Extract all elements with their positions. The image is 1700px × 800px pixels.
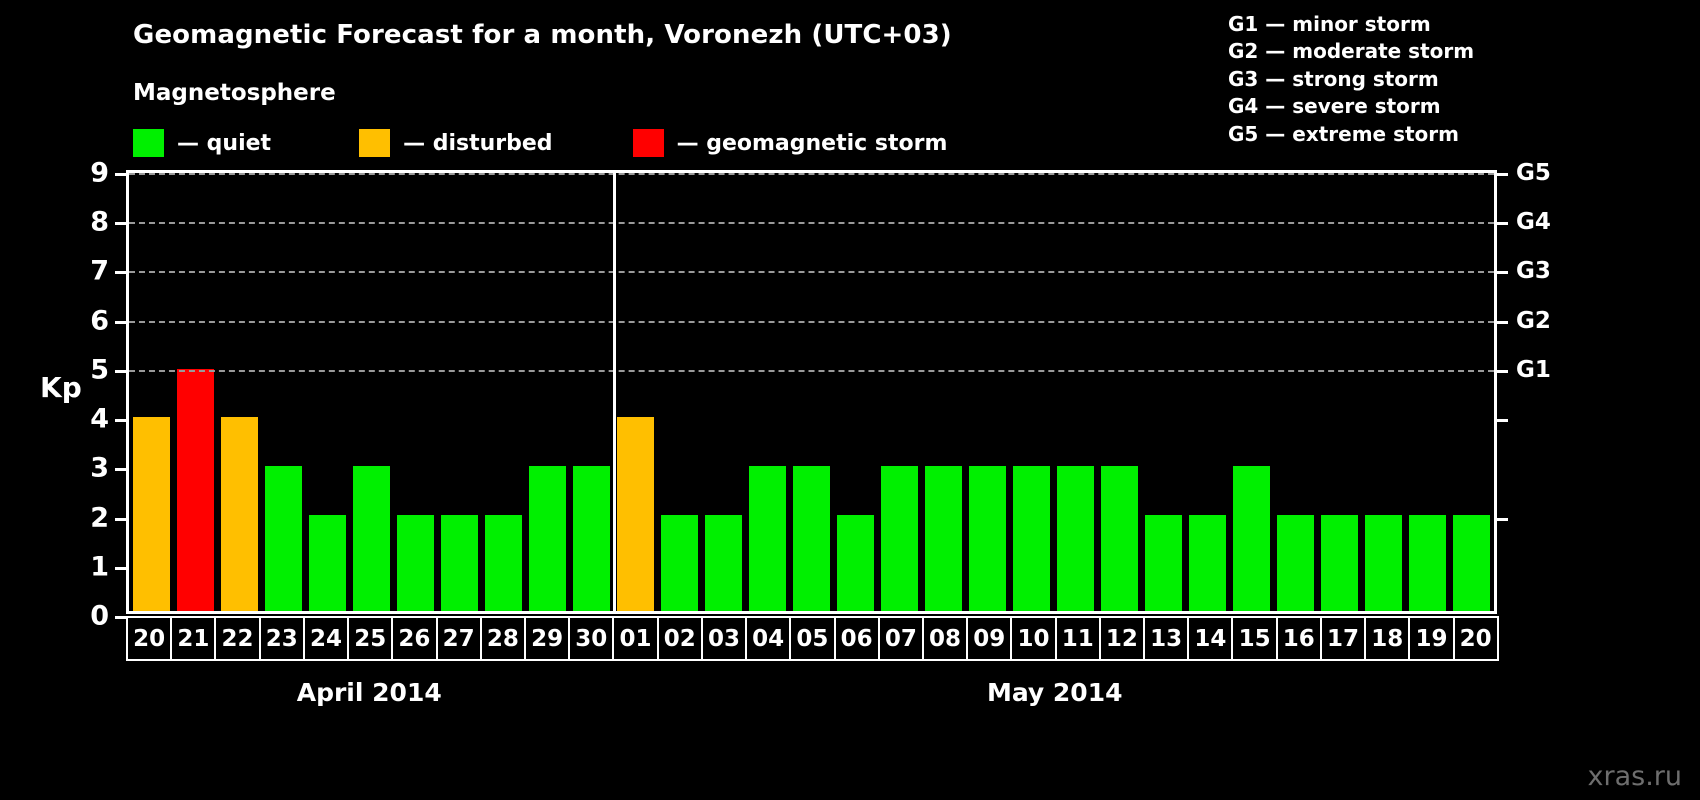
bar-30-kp-3[interactable] bbox=[573, 466, 610, 613]
plot-area: 0123456789G1G2G3G4G5 bbox=[126, 170, 1497, 613]
g-tick-G5 bbox=[1494, 173, 1508, 176]
bar-cell-15[interactable] bbox=[1230, 173, 1274, 613]
date-label-may-12[interactable]: 12 bbox=[1099, 616, 1145, 661]
month-caption-may: May 2014 bbox=[612, 678, 1497, 707]
date-label-april-26[interactable]: 26 bbox=[391, 616, 437, 661]
date-label-may-13[interactable]: 13 bbox=[1143, 616, 1189, 661]
y-tick-4 bbox=[115, 419, 129, 422]
bar-cell-23[interactable] bbox=[261, 173, 305, 613]
date-label-may-05[interactable]: 05 bbox=[789, 616, 835, 661]
bar-cell-16[interactable] bbox=[1274, 173, 1318, 613]
date-label-may-10[interactable]: 10 bbox=[1010, 616, 1056, 661]
date-label-may-06[interactable]: 06 bbox=[834, 616, 880, 661]
bar-17-kp-2[interactable] bbox=[1321, 515, 1358, 613]
g-axis-label-G1: G1 bbox=[1516, 357, 1551, 383]
bar-20-kp-4[interactable] bbox=[133, 417, 170, 613]
g-minor-tick-kp-4 bbox=[1494, 419, 1508, 422]
date-label-may-18[interactable]: 18 bbox=[1364, 616, 1410, 661]
bar-cell-07[interactable] bbox=[878, 173, 922, 613]
date-label-may-17[interactable]: 17 bbox=[1320, 616, 1366, 661]
g-axis-label-G5: G5 bbox=[1516, 160, 1551, 186]
bar-23-kp-3[interactable] bbox=[265, 466, 302, 613]
gridline-kp-6 bbox=[129, 321, 1494, 323]
page-title: Geomagnetic Forecast for a month, Vorone… bbox=[133, 20, 952, 50]
bar-cell-04[interactable] bbox=[745, 173, 789, 613]
bar-07-kp-3[interactable] bbox=[881, 466, 918, 613]
y-tick-8 bbox=[115, 222, 129, 225]
bar-25-kp-3[interactable] bbox=[353, 466, 390, 613]
g-scale-item-g2: G2 — moderate storm bbox=[1228, 38, 1474, 65]
gridline-kp-5 bbox=[129, 370, 1494, 372]
legend-swatch-disturbed-icon bbox=[359, 129, 390, 157]
bar-13-kp-2[interactable] bbox=[1145, 515, 1182, 613]
date-label-april-30[interactable]: 30 bbox=[568, 616, 614, 661]
bar-cell-11[interactable] bbox=[1054, 173, 1098, 613]
bar-cell-20[interactable] bbox=[1450, 173, 1494, 613]
y-tick-label-9: 9 bbox=[69, 158, 109, 189]
bar-03-kp-2[interactable] bbox=[705, 515, 742, 613]
bar-26-kp-2[interactable] bbox=[397, 515, 434, 613]
date-label-may-02[interactable]: 02 bbox=[657, 616, 703, 661]
date-label-may-09[interactable]: 09 bbox=[966, 616, 1012, 661]
g-scale-item-g4: G4 — severe storm bbox=[1228, 93, 1474, 120]
bar-09-kp-3[interactable] bbox=[969, 466, 1006, 613]
bar-19-kp-2[interactable] bbox=[1409, 515, 1446, 613]
bar-11-kp-3[interactable] bbox=[1057, 466, 1094, 613]
g-minor-tick-kp-2 bbox=[1494, 518, 1508, 521]
bar-05-kp-3[interactable] bbox=[793, 466, 830, 613]
bar-cell-30[interactable] bbox=[569, 173, 613, 613]
legend-swatch-quiet-icon bbox=[133, 129, 164, 157]
y-tick-3 bbox=[115, 468, 129, 471]
date-label-may-08[interactable]: 08 bbox=[922, 616, 968, 661]
g-scale-legend: G1 — minor stormG2 — moderate stormG3 — … bbox=[1228, 11, 1474, 148]
g-tick-G4 bbox=[1494, 222, 1508, 225]
y-tick-7 bbox=[115, 271, 129, 274]
legend-item-geomagnetic-storm: — geomagnetic storm bbox=[633, 128, 948, 158]
g-scale-item-g3: G3 — strong storm bbox=[1228, 66, 1474, 93]
g-tick-G2 bbox=[1494, 321, 1508, 324]
date-label-may-19[interactable]: 19 bbox=[1408, 616, 1454, 661]
bar-16-kp-2[interactable] bbox=[1277, 515, 1314, 613]
y-tick-label-4: 4 bbox=[69, 404, 109, 435]
bar-cell-10[interactable] bbox=[1010, 173, 1054, 613]
date-axis: 2021222324252627282930010203040506070809… bbox=[126, 616, 1497, 661]
g-tick-G3 bbox=[1494, 271, 1508, 274]
y-tick-9 bbox=[115, 173, 129, 176]
bar-14-kp-2[interactable] bbox=[1189, 515, 1226, 613]
legend-item-quiet: — quiet bbox=[133, 128, 271, 158]
bar-cell-21[interactable] bbox=[173, 173, 217, 613]
y-tick-label-1: 1 bbox=[69, 551, 109, 582]
g-scale-item-g5: G5 — extreme storm bbox=[1228, 121, 1474, 148]
magnetosphere-label: Magnetosphere bbox=[133, 80, 336, 106]
month-caption-april: April 2014 bbox=[126, 678, 612, 707]
bar-cell-28[interactable] bbox=[481, 173, 525, 613]
y-tick-label-6: 6 bbox=[69, 305, 109, 336]
y-tick-label-0: 0 bbox=[69, 601, 109, 632]
bar-cell-19[interactable] bbox=[1406, 173, 1450, 613]
bar-cell-13[interactable] bbox=[1142, 173, 1186, 613]
bar-27-kp-2[interactable] bbox=[441, 515, 478, 613]
bar-cell-29[interactable] bbox=[525, 173, 569, 613]
geomagnetic-forecast-chart: Geomagnetic Forecast for a month, Vorone… bbox=[0, 0, 1700, 800]
bar-02-kp-2[interactable] bbox=[661, 515, 698, 613]
bar-cell-22[interactable] bbox=[217, 173, 261, 613]
y-tick-label-3: 3 bbox=[69, 453, 109, 484]
bar-10-kp-3[interactable] bbox=[1013, 466, 1050, 613]
bar-04-kp-3[interactable] bbox=[749, 466, 786, 613]
bar-15-kp-3[interactable] bbox=[1233, 466, 1270, 613]
bar-06-kp-2[interactable] bbox=[837, 515, 874, 613]
legend-label-disturbed: — disturbed bbox=[403, 131, 553, 156]
bar-18-kp-2[interactable] bbox=[1365, 515, 1402, 613]
date-label-may-15[interactable]: 15 bbox=[1231, 616, 1277, 661]
y-tick-label-5: 5 bbox=[69, 354, 109, 385]
month-divider bbox=[613, 173, 616, 613]
date-label-april-20[interactable]: 20 bbox=[126, 616, 172, 661]
y-tick-5 bbox=[115, 370, 129, 373]
date-label-may-07[interactable]: 07 bbox=[878, 616, 924, 661]
watermark: xras.ru bbox=[1588, 761, 1683, 792]
bar-cell-09[interactable] bbox=[966, 173, 1010, 613]
date-label-april-29[interactable]: 29 bbox=[524, 616, 570, 661]
bar-cell-05[interactable] bbox=[789, 173, 833, 613]
bar-cell-02[interactable] bbox=[657, 173, 701, 613]
date-label-april-21[interactable]: 21 bbox=[170, 616, 216, 661]
g-axis-label-G4: G4 bbox=[1516, 209, 1551, 235]
y-tick-label-2: 2 bbox=[69, 502, 109, 533]
bar-24-kp-2[interactable] bbox=[309, 515, 346, 613]
y-tick-2 bbox=[115, 518, 129, 521]
bar-cell-12[interactable] bbox=[1098, 173, 1142, 613]
legend: — quiet— disturbed— geomagnetic storm bbox=[133, 128, 947, 158]
bar-22-kp-4[interactable] bbox=[221, 417, 258, 613]
date-label-may-01[interactable]: 01 bbox=[612, 616, 658, 661]
g-tick-G1 bbox=[1494, 370, 1508, 373]
date-label-april-28[interactable]: 28 bbox=[480, 616, 526, 661]
bar-cell-06[interactable] bbox=[834, 173, 878, 613]
bar-21-kp-5[interactable] bbox=[177, 369, 214, 613]
date-label-may-04[interactable]: 04 bbox=[745, 616, 791, 661]
gridline-kp-8 bbox=[129, 222, 1494, 224]
bar-cell-18[interactable] bbox=[1362, 173, 1406, 613]
gridline-kp-9 bbox=[129, 173, 1494, 175]
date-label-may-03[interactable]: 03 bbox=[701, 616, 747, 661]
y-tick-1 bbox=[115, 567, 129, 570]
bar-cell-20[interactable] bbox=[129, 173, 173, 613]
y-tick-6 bbox=[115, 321, 129, 324]
legend-label-quiet: — quiet bbox=[177, 131, 271, 156]
bar-cell-03[interactable] bbox=[701, 173, 745, 613]
gridline-kp-7 bbox=[129, 271, 1494, 273]
legend-item-disturbed: — disturbed bbox=[359, 128, 553, 158]
bar-28-kp-2[interactable] bbox=[485, 515, 522, 613]
date-label-may-14[interactable]: 14 bbox=[1187, 616, 1233, 661]
y-tick-label-8: 8 bbox=[69, 207, 109, 238]
x-axis-line bbox=[126, 611, 1497, 614]
legend-swatch-geomagnetic-storm-icon bbox=[633, 129, 664, 157]
bar-cell-26[interactable] bbox=[393, 173, 437, 613]
bar-cell-14[interactable] bbox=[1186, 173, 1230, 613]
date-label-april-23[interactable]: 23 bbox=[259, 616, 305, 661]
bar-08-kp-3[interactable] bbox=[925, 466, 962, 613]
date-label-april-27[interactable]: 27 bbox=[436, 616, 482, 661]
bar-cell-27[interactable] bbox=[437, 173, 481, 613]
y-tick-label-7: 7 bbox=[69, 256, 109, 287]
bar-cell-25[interactable] bbox=[349, 173, 393, 613]
bar-cell-01[interactable] bbox=[613, 173, 657, 613]
date-label-april-22[interactable]: 22 bbox=[214, 616, 260, 661]
g-scale-item-g1: G1 — minor storm bbox=[1228, 11, 1474, 38]
bar-series bbox=[129, 173, 1494, 613]
date-label-may-20[interactable]: 20 bbox=[1453, 616, 1499, 661]
bar-29-kp-3[interactable] bbox=[529, 466, 566, 613]
date-label-may-16[interactable]: 16 bbox=[1276, 616, 1322, 661]
legend-label-geomagnetic-storm: — geomagnetic storm bbox=[677, 131, 948, 156]
date-label-april-25[interactable]: 25 bbox=[347, 616, 393, 661]
bar-cell-24[interactable] bbox=[305, 173, 349, 613]
date-label-may-11[interactable]: 11 bbox=[1055, 616, 1101, 661]
bar-12-kp-3[interactable] bbox=[1101, 466, 1138, 613]
g-axis-label-G2: G2 bbox=[1516, 308, 1551, 334]
bar-01-kp-4[interactable] bbox=[617, 417, 654, 613]
g-axis-label-G3: G3 bbox=[1516, 258, 1551, 284]
bar-cell-08[interactable] bbox=[922, 173, 966, 613]
bar-cell-17[interactable] bbox=[1318, 173, 1362, 613]
bar-20-kp-2[interactable] bbox=[1453, 515, 1490, 613]
date-label-april-24[interactable]: 24 bbox=[303, 616, 349, 661]
